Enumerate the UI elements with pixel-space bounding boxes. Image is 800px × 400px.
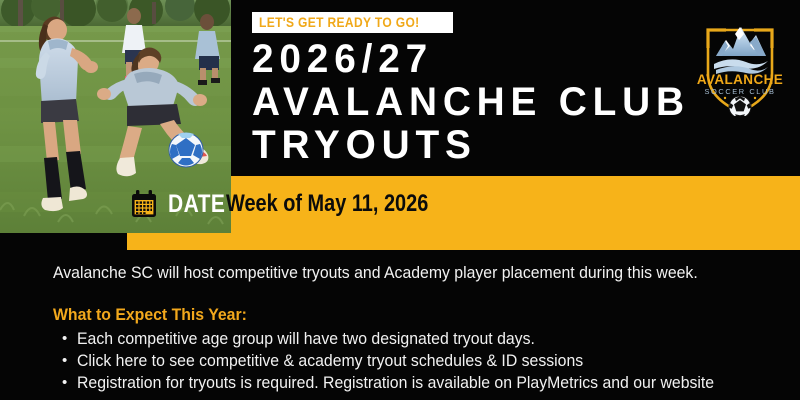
title-line-1: 2026/27 — [252, 38, 679, 81]
intro-paragraph: Avalanche SC will host competitive tryou… — [53, 262, 723, 284]
date-label: DATE — [168, 190, 225, 219]
title-line-2: AVALANCHE CLUB — [252, 81, 679, 124]
tryouts-flyer: DATE Week of May 11, 2026 LET'S GET READ… — [0, 0, 800, 400]
list-item-text[interactable]: Click here to see competitive & academy … — [77, 350, 583, 372]
list-item-text: Registration for tryouts is required. Re… — [77, 372, 714, 394]
body-copy: Avalanche SC will host competitive tryou… — [53, 262, 773, 394]
svg-text:SOCCER CLUB: SOCCER CLUB — [705, 87, 776, 96]
page-title: 2026/27 AVALANCHE CLUB TRYOUTS — [252, 38, 692, 167]
title-line-3: TRYOUTS — [252, 124, 679, 167]
calendar-icon — [131, 190, 157, 218]
kicker-badge: LET'S GET READY TO GO! — [252, 12, 453, 33]
avalanche-soccer-club-logo: AVALANCHE SOCCER CLUB — [694, 8, 786, 116]
date-value: Week of May 11, 2026 — [226, 190, 428, 218]
list-item-text: Each competitive age group will have two… — [77, 328, 535, 350]
kicker-badge-label: LET'S GET READY TO GO! — [259, 15, 420, 30]
list-item: Registration for tryouts is required. Re… — [53, 372, 773, 394]
list-item: Each competitive age group will have two… — [53, 328, 773, 350]
date-row: DATE Week of May 11, 2026 — [131, 184, 470, 224]
expect-bullet-list: Each competitive age group will have two… — [53, 328, 773, 394]
list-item[interactable]: Click here to see competitive & academy … — [53, 350, 773, 372]
expect-heading: What to Expect This Year: — [53, 305, 723, 325]
svg-text:AVALANCHE: AVALANCHE — [697, 72, 783, 87]
